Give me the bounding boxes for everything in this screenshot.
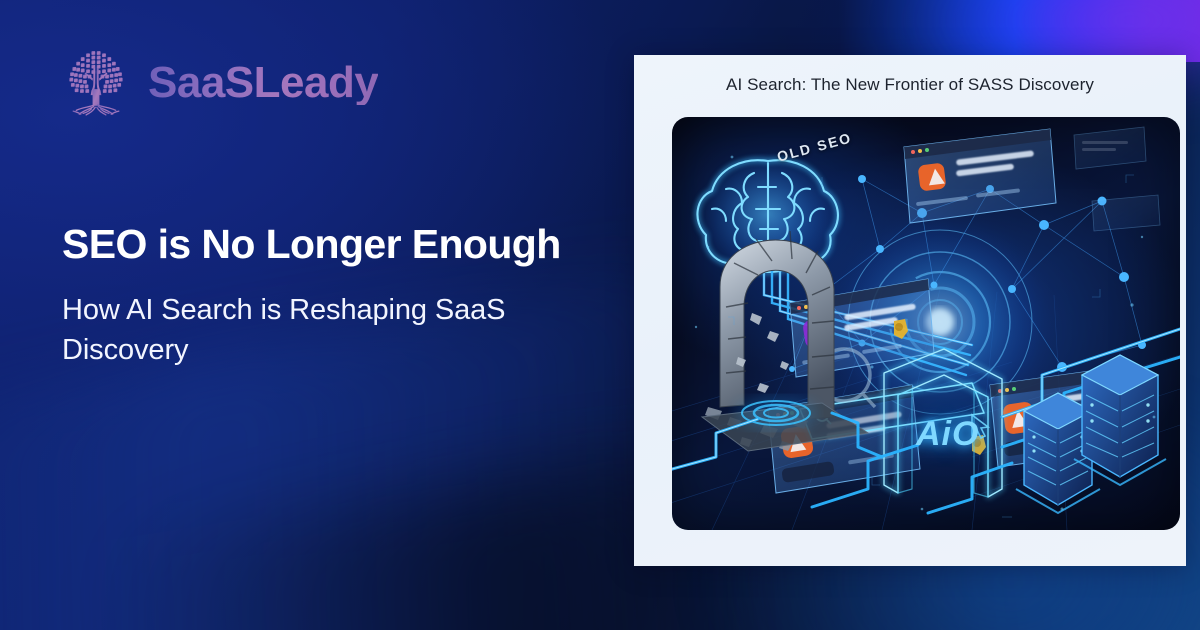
article-preview-card[interactable]: AI Search: The New Frontier of SASS Disc… xyxy=(634,55,1186,566)
ai-search-illustration: OLD SEO AiO xyxy=(672,117,1180,530)
illustration-artwork xyxy=(672,117,1180,530)
tree-icon xyxy=(58,45,134,121)
card-title: AI Search: The New Frontier of SASS Disc… xyxy=(634,75,1186,95)
hero-banner: SaaSLeady SEO is No Longer Enough How AI… xyxy=(0,0,1200,630)
page-subtitle: How AI Search is Reshaping SaaS Discover… xyxy=(62,290,622,370)
accent-gradient-band xyxy=(780,0,1200,62)
brand-logo[interactable]: SaaSLeady xyxy=(58,45,378,121)
result-card xyxy=(904,129,1056,223)
hero-copy: SEO is No Longer Enough How AI Search is… xyxy=(62,222,622,370)
brand-wordmark: SaaSLeady xyxy=(148,61,378,105)
page-title: SEO is No Longer Enough xyxy=(62,222,622,268)
